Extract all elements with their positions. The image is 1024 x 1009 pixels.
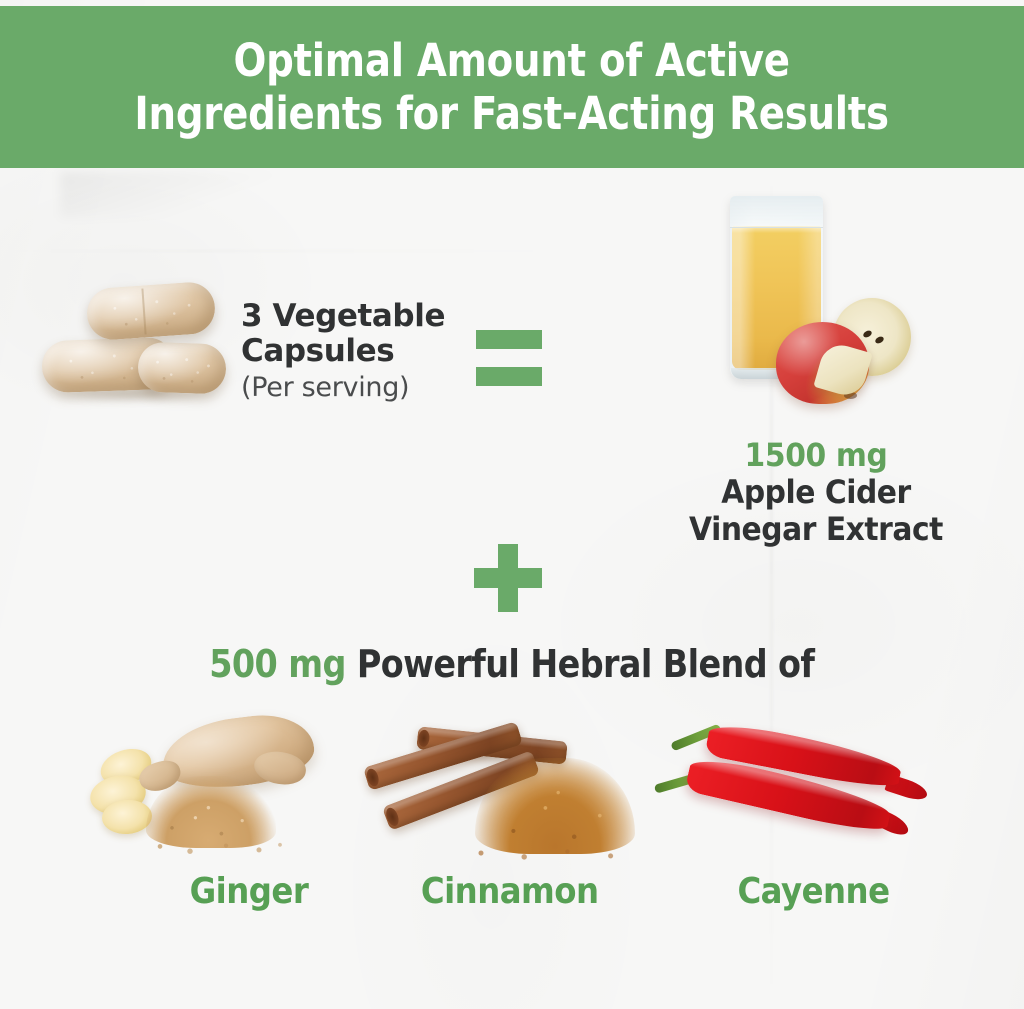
paper-texture-crease <box>60 172 320 218</box>
capsule-sublabel: (Per serving) <box>241 372 461 404</box>
header-banner: Optimal Amount of Active Ingredients for… <box>0 6 1024 168</box>
ingredient-name-cinnamon: Cinnamon <box>421 871 599 912</box>
vegetable-capsules-image <box>42 283 220 403</box>
equals-bar-top <box>476 330 542 349</box>
ingredient-item-cayenne: Cayenne <box>648 700 978 912</box>
blend-dosage: 500 mg <box>209 642 346 686</box>
ginger-powder-crumbs <box>142 840 292 856</box>
apple-seed <box>874 335 885 345</box>
cinnamon-powder-crumbs <box>463 846 643 862</box>
ingredient-item-cinnamon: Cinnamon <box>345 700 675 912</box>
infographic-canvas: Optimal Amount of Active Ingredients for… <box>0 0 1024 1009</box>
blend-headline: 500 mg Powerful Hebral Blend of <box>0 642 1024 686</box>
header-title: Optimal Amount of Active Ingredients for… <box>135 34 889 140</box>
equals-bar-bottom <box>476 367 542 386</box>
acv-text-block: 1500 mg Apple Cider Vinegar Extract <box>620 438 1012 549</box>
cayenne-image <box>648 700 978 865</box>
apple-cider-vinegar-image <box>690 192 940 414</box>
ingredient-name-cayenne: Cayenne <box>737 871 889 912</box>
capsule-label-block: 3 Vegetable Capsules (Per serving) <box>241 299 461 405</box>
capsule-headline: 3 Vegetable Capsules <box>241 299 461 368</box>
capsule-pill <box>137 341 227 394</box>
equals-sign-icon <box>476 330 542 386</box>
acv-name: Apple Cider Vinegar Extract <box>634 474 999 549</box>
cinnamon-image <box>345 700 675 865</box>
apple-seed <box>862 329 873 339</box>
ingredient-name-ginger: Ginger <box>190 871 309 912</box>
plus-sign-icon <box>474 544 542 612</box>
plus-bar-vertical <box>498 544 518 612</box>
glass-rim <box>730 196 823 228</box>
capsule-pill <box>85 281 216 342</box>
acv-dosage: 1500 mg <box>634 438 999 474</box>
ingredient-row: Ginger Cinnamon Cayenne <box>0 700 1024 950</box>
blend-label: Powerful Hebral Blend of <box>346 642 815 686</box>
